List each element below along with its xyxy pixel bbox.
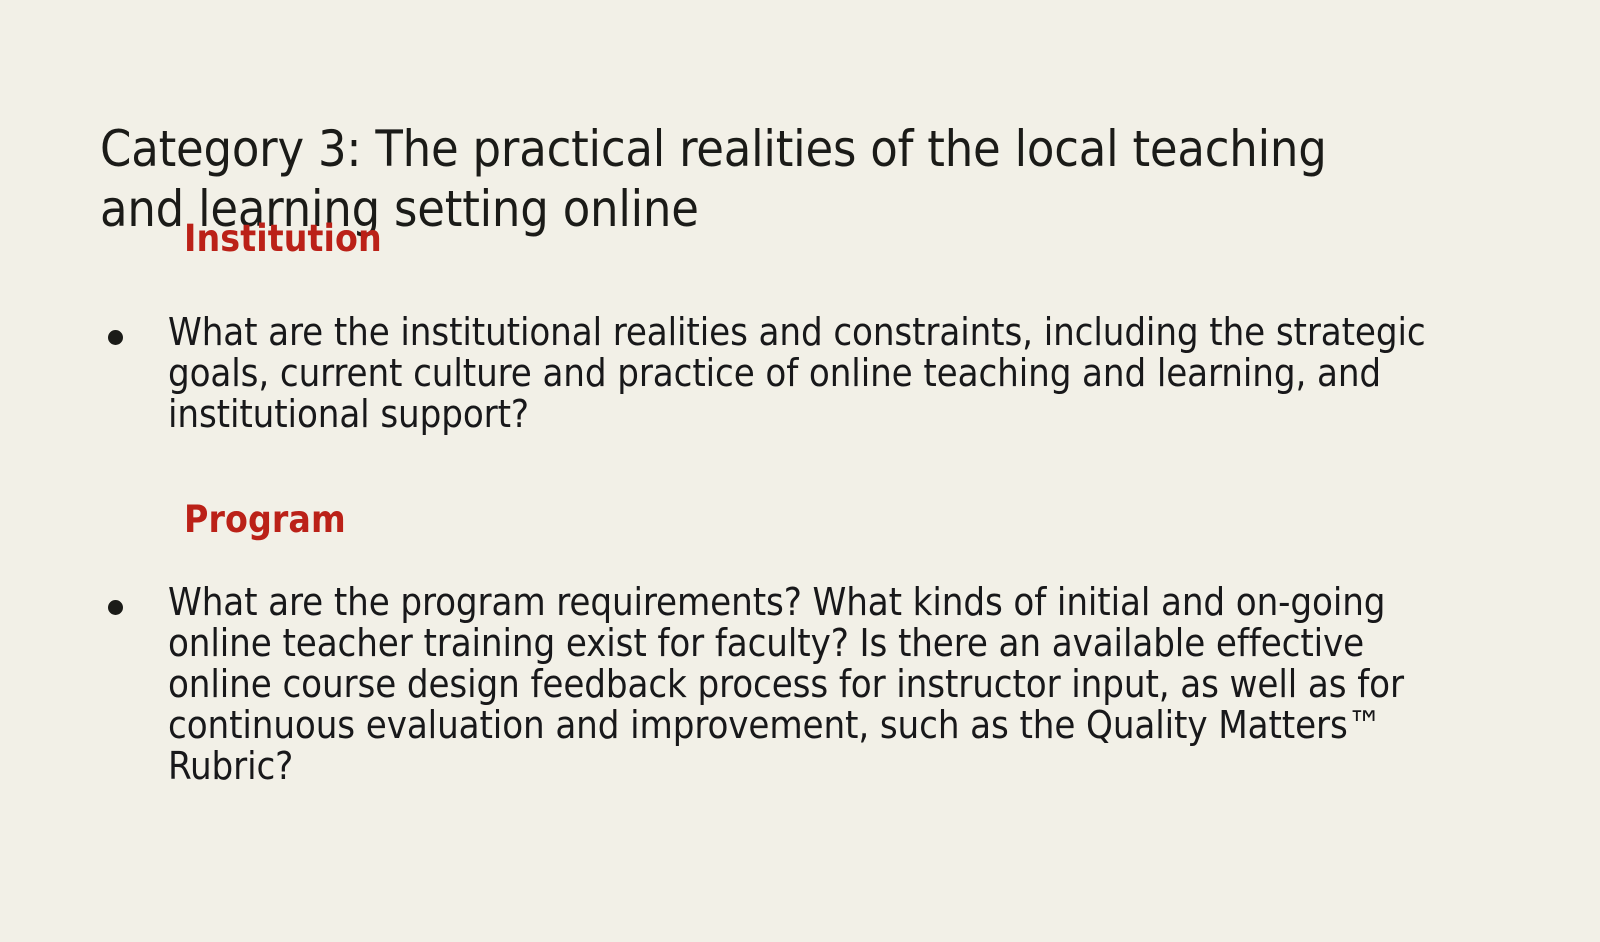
section-heading-institution: Institution [100, 216, 1430, 262]
section-institution: Institution What are the institutional r… [100, 216, 1430, 435]
bullet-dot-icon [108, 330, 123, 345]
slide-body: Institution What are the institutional r… [100, 216, 1430, 787]
bullet-text-program: What are the program requirements? What … [168, 582, 1430, 787]
bullet-text-institution: What are the institutional realities and… [168, 312, 1430, 435]
list-item: What are the institutional realities and… [100, 312, 1430, 435]
list-item: What are the program requirements? What … [100, 582, 1430, 787]
bullet-dot-icon [108, 600, 123, 615]
section-program: Program What are the program requirement… [100, 497, 1430, 787]
section-heading-program: Program [100, 497, 1430, 543]
slide-canvas: Category 3: The practical realities of t… [0, 0, 1600, 942]
